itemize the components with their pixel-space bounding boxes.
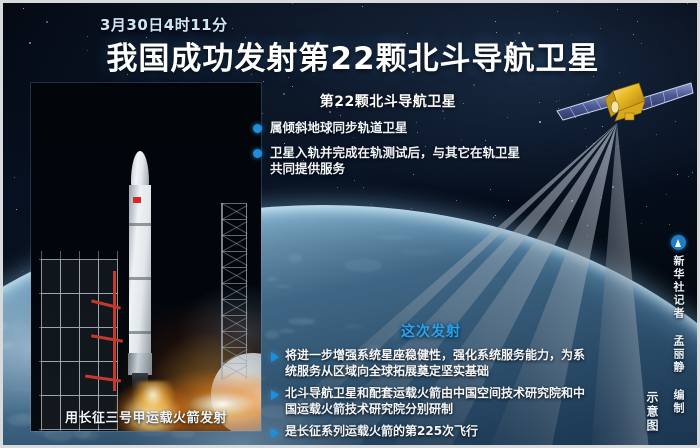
list-item: 是长征系列运载火箭的第225次飞行: [271, 424, 591, 440]
credit-block: 新华社记者 孟丽静 编制: [667, 235, 689, 415]
bullet-triangle-icon: [271, 390, 279, 400]
list-item: 将进一步增强系统星座稳健性，强化系统服务能力，为系统服务从区域向全球拓展奠定坚实…: [271, 348, 591, 379]
bullet-text: 是长征系列运载火箭的第225次飞行: [285, 424, 478, 440]
beidou-satellite-illustration: [555, 77, 695, 151]
satellite-bus: [605, 83, 645, 121]
xinhua-logo-icon: [671, 235, 686, 250]
rocket-nose-cone: [131, 151, 149, 189]
bullet-dot-icon: [253, 124, 262, 133]
launch-bullet-list: 将进一步增强系统星座稳健性，强化系统服务能力，为系统服务从区域向全球拓展奠定坚实…: [271, 348, 591, 440]
launch-info-section: 这次发射 将进一步增强系统星座稳健性，强化系统服务能力，为系统服务从区域向全球拓…: [271, 321, 591, 447]
bullet-triangle-icon: [271, 428, 279, 438]
bullet-text: 北斗导航卫星和配套运载火箭由中国空间技术研究院和中国运载火箭技术研究院分别研制: [285, 386, 591, 417]
china-flag-marking: [133, 197, 141, 203]
lightning-tower: [221, 203, 247, 379]
list-item: 卫星入轨并完成在轨测试后，与其它在轨卫星共同提供服务: [253, 145, 523, 177]
list-item: 北斗导航卫星和配套运载火箭由中国空间技术研究院和中国运载火箭技术研究院分别研制: [271, 386, 591, 417]
rocket-launch-photo: [31, 83, 261, 431]
bullet-triangle-icon: [271, 352, 279, 362]
launch-gantry: [35, 241, 123, 431]
photo-caption: 用长征三号甲运载火箭发射: [31, 407, 261, 426]
satellite-info-section: 第22颗北斗导航卫星 属倾斜地球同步轨道卫星 卫星入轨并完成在轨测试后，与其它在…: [253, 91, 523, 186]
infographic-poster: 用长征三号甲运载火箭发射: [0, 0, 700, 448]
list-item: 属倾斜地球同步轨道卫星: [253, 120, 523, 136]
launch-datetime: 3月30日4时11分: [100, 14, 228, 35]
bullet-dot-icon: [253, 149, 262, 158]
satellite-section-subtitle: 第22颗北斗导航卫星: [253, 91, 523, 111]
page-title: 我国成功发射第22颗北斗导航卫星: [3, 33, 700, 78]
credit-text: 新华社记者 孟丽静 编制: [670, 255, 686, 415]
solar-panel-right: [639, 83, 693, 110]
launch-section-subtitle: 这次发射: [271, 321, 591, 341]
bullet-text: 将进一步增强系统星座稳健性，强化系统服务能力，为系统服务从区域向全球拓展奠定坚实…: [285, 348, 591, 379]
bullet-text: 卫星入轨并完成在轨测试后，与其它在轨卫星共同提供服务: [270, 145, 523, 177]
rocket-body: [129, 185, 151, 375]
satellite-bullet-list: 属倾斜地球同步轨道卫星 卫星入轨并完成在轨测试后，与其它在轨卫星共同提供服务: [253, 120, 523, 177]
photo-content: [31, 83, 261, 431]
schematic-note: 示意图: [644, 391, 661, 433]
bullet-text: 属倾斜地球同步轨道卫星: [270, 120, 408, 136]
